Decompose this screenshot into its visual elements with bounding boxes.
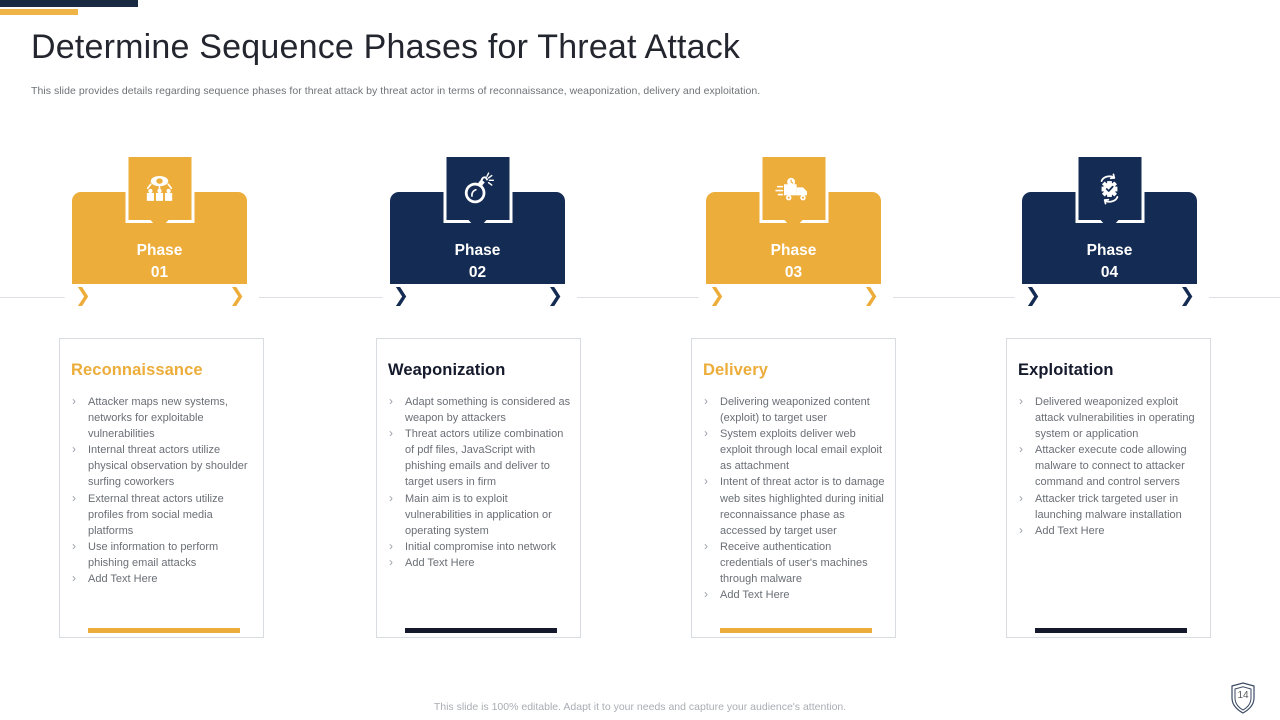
card-bullets-2: Adapt something is considered as weapon … <box>385 394 572 571</box>
chevron-right-icon: ❯ <box>393 287 409 306</box>
phase-label-2: Phase 02 <box>390 240 565 284</box>
card-accent-bar-3 <box>720 628 872 633</box>
decorative-bar-dark <box>0 0 138 7</box>
list-item: System exploits deliver web exploit thro… <box>700 426 887 474</box>
list-item: Internal threat actors utilize physical … <box>68 442 255 490</box>
card-accent-bar-2 <box>405 628 557 633</box>
chevron-right-icon: ❯ <box>1025 287 1041 306</box>
list-item: Intent of threat actor is to damage web … <box>700 474 887 538</box>
phase-number-3: 03 <box>706 262 881 284</box>
gear-refresh-icon <box>1075 154 1144 223</box>
phase-block-2[interactable]: Phase 02 <box>390 192 565 287</box>
list-item: Add Text Here <box>700 587 887 603</box>
phase-label-3: Phase 03 <box>706 240 881 284</box>
card-accent-bar-4 <box>1035 628 1187 633</box>
list-item: Delivering weaponized content (exploit) … <box>700 394 887 426</box>
list-item: External threat actors utilize profiles … <box>68 491 255 539</box>
list-item: Attacker execute code allowing malware t… <box>1015 442 1202 490</box>
phase-card-delivery[interactable]: Delivery Delivering weaponized content (… <box>691 338 896 638</box>
phase-number-2: 02 <box>390 262 565 284</box>
card-title-1: Reconnaissance <box>71 361 203 380</box>
page-title: Determine Sequence Phases for Threat Att… <box>31 28 740 67</box>
phase-word-2: Phase <box>455 242 501 259</box>
phase-word-4: Phase <box>1087 242 1133 259</box>
page-number-badge: 14 <box>1228 681 1258 715</box>
phase-label-4: Phase 04 <box>1022 240 1197 284</box>
phase-number-4: 04 <box>1022 262 1197 284</box>
list-item: Adapt something is considered as weapon … <box>385 394 572 426</box>
list-item: Receive authentication credentials of us… <box>700 539 887 587</box>
surveillance-eye-icon <box>125 154 194 223</box>
page-subtitle: This slide provides details regarding se… <box>31 85 760 97</box>
phase-card-weaponization[interactable]: Weaponization Adapt something is conside… <box>376 338 581 638</box>
list-item: Add Text Here <box>68 571 255 587</box>
decorative-bar-amber <box>0 9 78 15</box>
phase-card-exploitation[interactable]: Exploitation Delivered weaponized exploi… <box>1006 338 1211 638</box>
chevron-right-icon: ❯ <box>547 287 563 306</box>
list-item: Initial compromise into network <box>385 539 572 555</box>
phase-ribbon-2: ❯ ❯ <box>381 284 577 308</box>
list-item: Add Text Here <box>1015 523 1202 539</box>
phase-card-reconnaissance[interactable]: Reconnaissance Attacker maps new systems… <box>59 338 264 638</box>
list-item: Use information to perform phishing emai… <box>68 539 255 571</box>
card-bullets-3: Delivering weaponized content (exploit) … <box>700 394 887 603</box>
list-item: Threat actors utilize combination of pdf… <box>385 426 572 490</box>
phase-ribbon-3: ❯ ❯ <box>697 284 893 308</box>
phase-number-1: 01 <box>72 262 247 284</box>
phase-word-1: Phase <box>137 242 183 259</box>
phase-ribbon-4: ❯ ❯ <box>1013 284 1209 308</box>
phase-label-1: Phase 01 <box>72 240 247 284</box>
footer-note: This slide is 100% editable. Adapt it to… <box>0 701 1280 713</box>
chevron-right-icon: ❯ <box>229 287 245 306</box>
list-item: Attacker maps new systems, networks for … <box>68 394 255 442</box>
list-item: Delivered weaponized exploit attack vuln… <box>1015 394 1202 442</box>
bomb-icon <box>443 154 512 223</box>
chevron-right-icon: ❯ <box>1179 287 1195 306</box>
phase-ribbon-1: ❯ ❯ <box>63 284 259 308</box>
phase-block-3[interactable]: Phase 03 <box>706 192 881 287</box>
card-accent-bar-1 <box>88 628 240 633</box>
phase-block-1[interactable]: Phase 01 <box>72 192 247 287</box>
chevron-right-icon: ❯ <box>75 287 91 306</box>
delivery-truck-icon <box>759 154 828 223</box>
card-bullets-4: Delivered weaponized exploit attack vuln… <box>1015 394 1202 539</box>
chevron-right-icon: ❯ <box>863 287 879 306</box>
card-bullets-1: Attacker maps new systems, networks for … <box>68 394 255 587</box>
chevron-right-icon: ❯ <box>709 287 725 306</box>
list-item: Add Text Here <box>385 555 572 571</box>
page-number: 14 <box>1228 690 1258 701</box>
card-title-3: Delivery <box>703 361 768 380</box>
list-item: Attacker trick targeted user in launchin… <box>1015 491 1202 523</box>
card-title-2: Weaponization <box>388 361 505 380</box>
list-item: Main aim is to exploit vulnerabilities i… <box>385 491 572 539</box>
phase-word-3: Phase <box>771 242 817 259</box>
card-title-4: Exploitation <box>1018 361 1114 380</box>
phase-block-4[interactable]: Phase 04 <box>1022 192 1197 287</box>
